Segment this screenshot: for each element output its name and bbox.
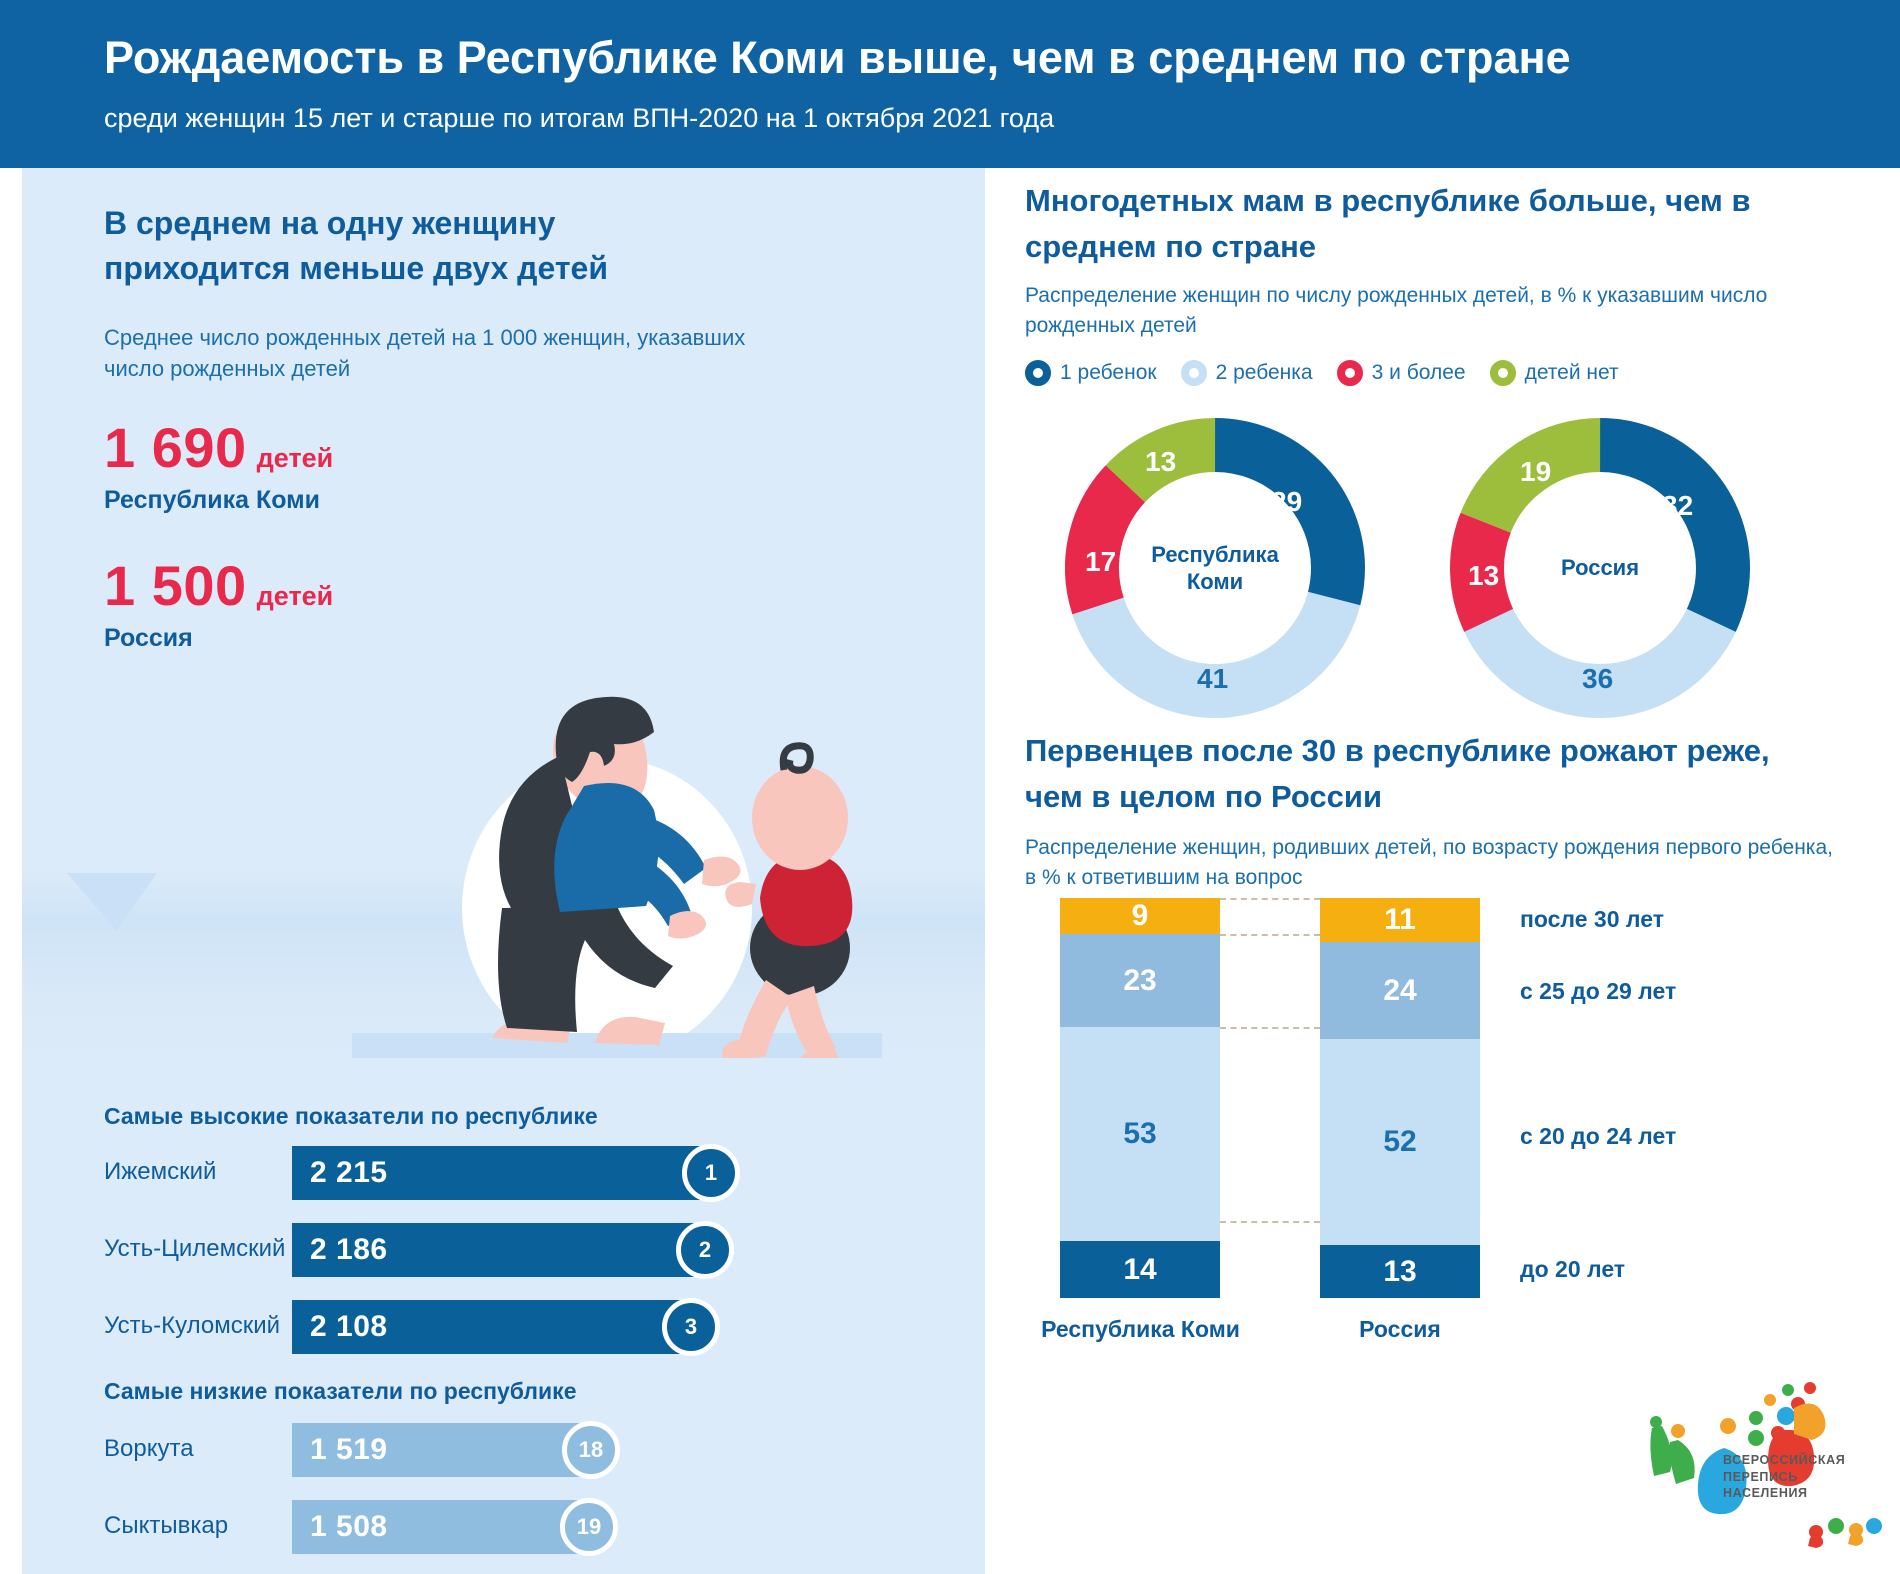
link-line-top bbox=[1220, 898, 1320, 900]
cat-label-under-20: до 20 лет bbox=[1520, 1256, 1625, 1283]
stack-xlabel-russia: Россия bbox=[1320, 1316, 1480, 1343]
legend-dot-icon bbox=[1025, 360, 1051, 386]
legend-dot-icon bbox=[1181, 360, 1207, 386]
stat-komi-unit: детей bbox=[257, 443, 334, 473]
rank-bar: 1 508 bbox=[292, 1500, 590, 1554]
highest-rank-header: Самые высокие показатели по республике bbox=[104, 1103, 598, 1130]
rank-badge: 3 bbox=[662, 1298, 720, 1356]
rank-value: 1 508 bbox=[310, 1510, 388, 1544]
rank-bar: 2 108 bbox=[292, 1300, 692, 1354]
left-section-subtitle: Среднее число рожденных детей на 1 000 ж… bbox=[104, 323, 764, 385]
rank-label: Сыктывкар bbox=[104, 1512, 228, 1540]
donut-chart-komi: РеспубликаКоми 29 41 17 13 bbox=[1065, 418, 1365, 718]
left-section-title: В среднем на одну женщину приходится мен… bbox=[104, 201, 704, 292]
stat-russia-value: 1 500 bbox=[104, 554, 247, 617]
right-section1-subtitle: Распределение женщин по числу рожденных … bbox=[1025, 281, 1845, 342]
rank-value: 2 215 bbox=[310, 1156, 388, 1190]
cat-label-after-30: после 30 лет bbox=[1520, 906, 1664, 933]
legend-item-no-children: детей нет bbox=[1490, 360, 1619, 386]
right-section2-subtitle: Распределение женщин, родивших детей, по… bbox=[1025, 833, 1845, 894]
stack-column-komi: 9 23 53 14 bbox=[1060, 898, 1220, 1221]
left-panel: В среднем на одну женщину приходится мен… bbox=[22, 168, 985, 1574]
stack-column-russia: 11 24 52 13 bbox=[1320, 898, 1480, 1221]
mother-and-toddler-illustration bbox=[352, 628, 882, 1058]
segment-under-20: 13 bbox=[1320, 1245, 1480, 1298]
donut-legend: 1 ребенок 2 ребенка 3 и более детей нет bbox=[1025, 360, 1629, 386]
segment-under-20: 14 bbox=[1060, 1241, 1220, 1298]
link-line-2024 bbox=[1220, 1221, 1320, 1223]
donut-russia-svg bbox=[1450, 418, 1750, 718]
right-section2-title: Первенцев после 30 в республике рожают р… bbox=[1025, 728, 1825, 820]
rank-bar: 1 519 bbox=[292, 1423, 592, 1477]
segment-25-29: 23 bbox=[1060, 934, 1220, 1027]
legend-label: 1 ребенок bbox=[1060, 361, 1157, 385]
legend-label: 3 и более bbox=[1372, 361, 1466, 385]
stat-komi-value: 1 690 bbox=[104, 416, 247, 479]
legend-item-3-or-more: 3 и более bbox=[1337, 360, 1466, 386]
page-title: Рождаемость в Республике Коми выше, чем … bbox=[104, 32, 1571, 84]
rank-badge: 18 bbox=[562, 1421, 620, 1479]
logo-line-3: НАСЕЛЕНИЯ bbox=[1723, 1485, 1845, 1502]
rank-value: 1 519 bbox=[310, 1433, 388, 1467]
page-subtitle: среди женщин 15 лет и старше по итогам В… bbox=[104, 103, 1054, 134]
stat-komi: 1 690детей Республика Коми bbox=[104, 415, 333, 515]
logo-line-2: ПЕРЕПИСЬ bbox=[1723, 1469, 1845, 1486]
right-section1-title: Многодетных мам в республике больше, чем… bbox=[1025, 178, 1825, 270]
rank-label: Воркута bbox=[104, 1435, 194, 1463]
rank-badge: 2 bbox=[676, 1221, 734, 1279]
stat-russia-region: Россия bbox=[104, 624, 333, 653]
legend-dot-icon bbox=[1490, 360, 1516, 386]
rank-label: Усть-Куломский bbox=[104, 1312, 280, 1340]
stat-russia: 1 500детей Россия bbox=[104, 553, 333, 653]
rank-bar: 2 215 bbox=[292, 1146, 712, 1200]
lowest-rank-header: Самые низкие показатели по республике bbox=[104, 1378, 577, 1405]
stack-xlabel-komi: Республика Коми bbox=[1038, 1316, 1243, 1343]
logo-text: ВСЕРОССИЙСКАЯ ПЕРЕПИСЬ НАСЕЛЕНИЯ bbox=[1723, 1452, 1845, 1502]
link-line-after30 bbox=[1220, 934, 1320, 936]
rank-label: Усть-Цилемский bbox=[104, 1235, 285, 1263]
segment-after-30: 11 bbox=[1320, 898, 1480, 942]
link-line-2529 bbox=[1220, 1027, 1320, 1029]
legend-label: детей нет bbox=[1525, 361, 1619, 385]
cat-label-25-29: с 25 до 29 лет bbox=[1520, 978, 1676, 1005]
segment-25-29: 24 bbox=[1320, 942, 1480, 1039]
rank-badge: 1 bbox=[682, 1144, 740, 1202]
rank-badge: 19 bbox=[560, 1498, 618, 1556]
legend-item-1-child: 1 ребенок bbox=[1025, 360, 1157, 386]
legend-dot-icon bbox=[1337, 360, 1363, 386]
rank-value: 2 108 bbox=[310, 1310, 388, 1344]
legend-label: 2 ребенка bbox=[1216, 361, 1313, 385]
logo-line-1: ВСЕРОССИЙСКАЯ bbox=[1723, 1452, 1845, 1469]
legend-item-2-children: 2 ребенка bbox=[1181, 360, 1313, 386]
segment-after-30: 9 bbox=[1060, 898, 1220, 934]
rank-label: Ижемский bbox=[104, 1158, 216, 1186]
rank-value: 2 186 bbox=[310, 1233, 388, 1267]
segment-20-24: 53 bbox=[1060, 1027, 1220, 1241]
infographic-page: Рождаемость в Республике Коми выше, чем … bbox=[0, 0, 1900, 1574]
stacked-bar-chart: 9 23 53 14 Республика Коми 11 24 52 13 Р… bbox=[1060, 898, 1880, 1298]
header-banner: Рождаемость в Республике Коми выше, чем … bbox=[0, 0, 1900, 168]
cat-label-20-24: с 20 до 24 лет bbox=[1520, 1123, 1676, 1150]
donut-komi-svg bbox=[1065, 418, 1365, 718]
stat-komi-region: Республика Коми bbox=[104, 486, 333, 515]
right-panel: Многодетных мам в республике больше, чем… bbox=[1000, 168, 1900, 1574]
stat-russia-unit: детей bbox=[257, 581, 334, 611]
segment-20-24: 52 bbox=[1320, 1039, 1480, 1245]
donut-chart-russia: Россия 32 36 13 19 bbox=[1450, 418, 1750, 718]
rank-bar: 2 186 bbox=[292, 1223, 706, 1277]
